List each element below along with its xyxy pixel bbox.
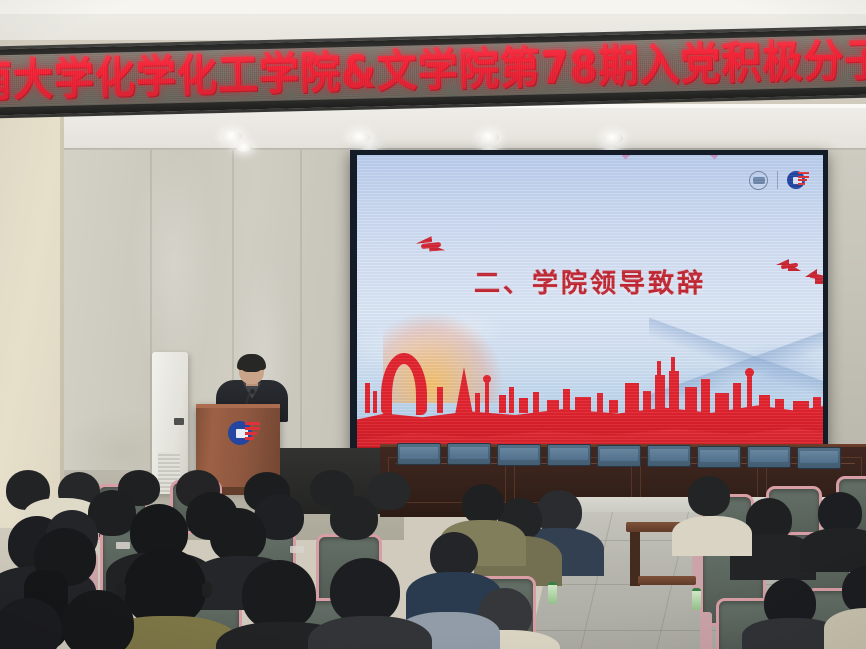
ceiling-downlight [236, 143, 252, 152]
ceiling-band [0, 0, 866, 14]
audience-area [0, 470, 866, 649]
stage-chair-back [647, 445, 691, 467]
red-skyline-graphic [357, 337, 823, 455]
stage-chair-back [797, 447, 841, 469]
ceiling-downlight [479, 132, 499, 143]
audience-head [688, 476, 730, 516]
college-g-emblem-icon [787, 169, 809, 191]
stage-chair-back [397, 443, 441, 465]
ceiling-downlight [350, 132, 370, 143]
stage-chair-back [597, 445, 641, 467]
stage-chair-back [447, 443, 491, 465]
auditorium-photo: 南大学化学化工学院&文学院第78期入党积极分子暨第22期发展 [0, 0, 866, 649]
audience-head [242, 560, 316, 630]
slide-title: 二、学院领导致辞 [357, 263, 823, 300]
ceiling-downlight [222, 131, 242, 142]
seat-number-plate [290, 546, 304, 553]
ceiling-downlight [603, 133, 623, 144]
seat-armrest [700, 612, 712, 649]
stage-chair-back [547, 444, 591, 466]
audience-shoulders [800, 528, 866, 572]
right-hall-wall [826, 150, 866, 450]
audience-shoulders [672, 516, 752, 556]
audience-head [330, 558, 400, 624]
air-conditioner-display [174, 418, 184, 425]
stage-chair-back [497, 444, 541, 466]
microphone-head-icon [250, 389, 255, 394]
seat-writing-desk [638, 576, 696, 585]
audience-head [462, 484, 504, 524]
dove-icon [413, 237, 447, 253]
left-wall [0, 108, 64, 528]
audience-head [210, 508, 266, 562]
logo-divider [777, 171, 778, 189]
seat-number-plate [116, 542, 130, 549]
landmark-tower [455, 367, 473, 415]
university-seal-icon [749, 171, 768, 190]
earphone-icon [202, 582, 212, 598]
projection-screen: 二、学院领导致辞 [357, 155, 823, 455]
slide-logo-group [749, 169, 809, 191]
stage-chair-back [747, 446, 791, 468]
audience-head [124, 548, 206, 626]
projection-screen-frame: 二、学院领导致辞 [350, 150, 828, 458]
water-bottle [548, 582, 557, 604]
audience-head [330, 496, 378, 540]
dove-icon [805, 269, 823, 285]
stage-chair-back [697, 446, 741, 468]
water-bottle [692, 588, 701, 610]
dove-icon [775, 259, 803, 273]
audience-head [62, 590, 134, 649]
podium-logo-icon [228, 417, 260, 447]
audience-head [368, 472, 410, 510]
speaker-hair [237, 354, 266, 370]
ceiling-soffit [64, 108, 866, 152]
